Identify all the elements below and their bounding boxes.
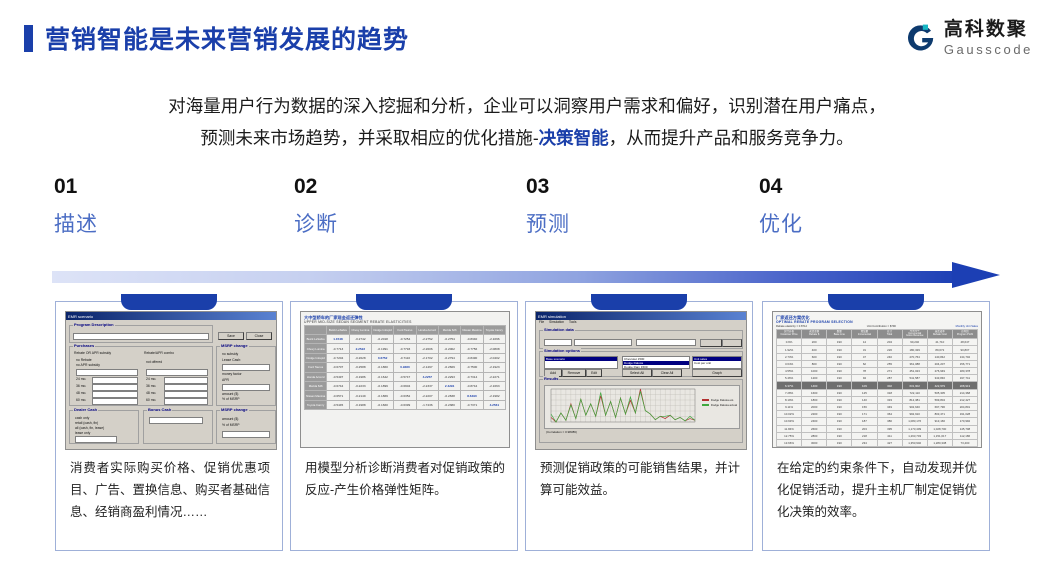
matrix-row-header: Ford Taurus [305,363,327,372]
segment-select[interactable] [574,339,632,346]
slide-root: 营销智能是未来营销发展的趋势 高科数聚 Gausscode 对海量用户行为数据的… [0,0,1051,586]
rebate-cell: 2400 [802,418,827,425]
page-title: 营销智能是未来营销发展的趋势 [24,20,409,56]
apr-48-input[interactable] [92,391,138,398]
table-row: Toyota Camry-0.5445-0.1988-0.1660-0.6399… [305,400,506,409]
rebate-cell: 343,846 [927,375,952,382]
rebate-cell: 1800 [802,396,827,403]
rebate-cell: 10.93% [777,418,802,425]
step-01: 01 描述 [54,176,98,235]
card-predict-caption: 预测促销政策的可能销售结果，并计算可能效益。 [540,458,740,502]
rebate-cell: 190 [827,368,852,375]
matrix-row-header: Nissan Maxima [305,391,327,400]
apr-60-input[interactable] [92,398,138,405]
rebate-cell: 73,400 [952,439,977,446]
table-row: 0.9%2001901420490,24041,71048,647 [777,339,978,346]
options-list[interactable]: Unit salesCost per unit [692,356,742,369]
rebate-elasticity-matrix-screenshot: 大中型轿车的厂家现金返还弹性 UPPER MID-SIZE SEDAN SEGM… [300,311,510,448]
matrix-cell: -0.2754 [438,335,460,344]
rebate-cell: 190 [827,439,852,446]
group-label: Purchases [73,343,95,348]
radio-msrp-pct[interactable]: % of MSRP [222,423,240,428]
msrp-change-input[interactable] [222,431,270,438]
legend-label: Dodge Dakota actual [711,403,737,407]
rebate-cell: 992,910 [902,411,927,418]
rebate-cell: 364 [877,411,902,418]
combo-term-48: 48 mo. [146,391,156,396]
process-steps: 01 描述 02 诊断 03 预测 04 优化 [54,176,1014,246]
rebate-cell: 1400 [802,382,827,389]
step-03-number: 03 [526,176,570,197]
matrix-col-header: Mazda 626 [438,325,460,334]
matrix-cell: -1.7436 [416,400,438,409]
matrix-cell: -2.1982 [483,391,505,400]
rebate-cell: 190 [827,382,852,389]
rebate-cell: 190 [827,396,852,403]
radio-money-factor[interactable]: money factor [222,372,242,377]
rate-subsidy-input[interactable] [222,384,270,391]
combo-24-input[interactable] [164,377,208,384]
step-01-label: 描述 [54,214,98,235]
card-describe-caption: 消费者实际购买价格、促销优惠项目、广告、置换信息、购买者基础信息、经销商盈利情况… [70,458,270,524]
matrix-cell: -0.2018 [371,335,393,344]
rebate-cell: 3.64% [777,360,802,367]
forecast-chart: Dodge Dakota est. Dodge Dakota actual [544,385,740,429]
rebate-col-header: 数量Base Line [827,329,852,339]
matrix-col-header: Honda Accord [416,325,438,334]
matrix-cell: -0.5747 [394,372,416,381]
rebate-cell: 226 [877,346,902,353]
sim-run-button[interactable] [700,339,722,347]
rebate-cell: 156 [852,403,877,410]
card-tab-icon [591,294,687,310]
lease-cash-input[interactable] [222,364,270,371]
rebate-col-header: 返还成本Rebate Cost [927,329,952,339]
rebate-cell: 0.9% [777,339,802,346]
matrix-cell: -0.1869 [371,391,393,400]
matrix-cell: -0.5445 [327,400,349,409]
rebate-cell: 48,647 [952,339,977,346]
rebate-cell: 1,353,940 [902,439,927,446]
scenario-list[interactable]: Base scenario [544,356,618,369]
window-title: EMR simulation [538,314,566,319]
rebate-cell: 190 [827,389,852,396]
graph-button[interactable]: Graph [692,369,742,377]
brand-logo: 高科数聚 Gausscode [905,20,1033,56]
rebate-col-header: 返还金额Rebate $ [802,329,827,339]
group-label: MSRP change [220,343,249,348]
matrix-cell: -0.2002 [438,344,460,353]
rebate-cell: 1600 [802,389,827,396]
matrix-row-header: Toyota Camry [305,400,327,409]
matrix-cell: -0.5497 [327,372,349,381]
rebate-cell: 11.84% [777,425,802,432]
matrix-cell: -0.6399 [394,400,416,409]
matrix-cell: -0.7500 [461,363,483,372]
matrix-row-header: Dodge Intrepid [305,353,327,362]
rebate-cell: 9.11% [777,403,802,410]
simulation-forecast-chart-screenshot: EMR simulation File Simulation Tools Sim… [535,311,747,450]
logo-name-en: Gausscode [944,43,1033,56]
table-row: 10.02%2200190171364992,910803,471191,028 [777,411,978,418]
rebate-cell: 47 [852,353,877,360]
rebate-cell: 156,771 [952,360,977,367]
rebate-cell: 1,151,617 [927,432,952,439]
rebate-cell: 3000 [802,439,827,446]
model-year-select[interactable] [544,339,572,346]
radio-not-offered[interactable]: not offered [146,360,162,365]
rebate-cell: 203 [852,425,877,432]
rebate-cell: 208,913 [952,382,977,389]
matrix-cell: -0.7756 [461,344,483,353]
matrix-cell: 2.2522 [349,344,371,353]
matrix-cell: -2.2271 [483,372,505,381]
matrix-cell: -2.1663 [483,382,505,391]
rebate-cell: 12.75% [777,432,802,439]
radio-cash-only[interactable]: cash only [75,416,89,421]
card-tab-icon [356,294,452,310]
rebate-cell: 318 [877,389,902,396]
table-row: 10.93%24001901873801,083,176913,166170,9… [777,418,978,425]
combo-60-input[interactable] [164,398,208,405]
matrix-col-header: Toyota Camry [483,325,505,334]
matrix-cell: -0.1860 [371,363,393,372]
matrix-cell: 4.2561 [483,400,505,409]
combo-amount-input[interactable] [146,369,208,376]
table-row: 7.28%1600190125318722,110505,305214,368 [777,389,978,396]
rebate-cell: 89,672 [927,346,952,353]
label-rebate-apr: Rebate OR APR subsidy [74,351,111,356]
matrix-cell: -0.7371 [461,400,483,409]
matrix-row-header: Buick LeSabre [305,335,327,344]
rebate-cell: 422,979 [927,382,952,389]
intro-line-2-post: ，从而提升产品和服务竞争力。 [609,128,854,148]
rebate-cell: 218 [852,432,877,439]
card-describe[interactable]: EMR scenario Program Description Save Cl… [55,301,283,551]
apr-36-input[interactable] [92,384,138,391]
matrix-col-header: Dodge Intrepid [371,325,393,334]
rebate-cell: 145,708 [952,425,977,432]
card-optimize[interactable]: 厂家返还方案优化 OPTIMAL REBATE PROGRAM SELECTIO… [762,301,990,551]
rebate-cell: 631,902 [902,382,927,389]
rebate-cell: 190 [827,360,852,367]
group-simulation-options: Simulation options Base scenario Chevrol… [539,351,743,377]
close-button[interactable]: Close [246,332,272,340]
table-row: 6.37%1400190109302631,902422,979208,913 [777,382,978,389]
legend-label: Dodge Dakota est. [711,398,734,402]
matrix-col-header: Chevy Lumina [349,325,371,334]
rebate-cell: 361,088 [902,360,927,367]
matrix-cell: -2.1497 [416,363,438,372]
rebate-cell: 14.57% [777,447,802,448]
radio-all[interactable]: all (cash, fin, lease) [75,426,104,431]
clear-all-button[interactable]: Clear All [652,369,682,377]
matrix-col-header: Ford Taurus [394,325,416,334]
elasticity-matrix-table: Buick LeSabreChevy LuminaDodge IntrepidF… [304,325,506,411]
rebate-cell: 94 [852,375,877,382]
table-row: Dodge Intrepid-0.7204-0.26280.6752-0.711… [305,353,506,362]
step-02-number: 02 [294,176,338,197]
rebate-cell: 190 [827,425,852,432]
model-list[interactable]: Chevrolet 1500Dodge DakotaDodge Ram 1500 [622,356,690,369]
rebate-cell: 140,842 [927,353,952,360]
title-text: 营销智能是未来营销发展的趋势 [45,20,409,56]
matrix-cell: -0.6707 [327,363,349,372]
rebate-cell: 400 [802,346,827,353]
table-header-row: 实行价格Customer Price返还金额Rebate $数量Base Lin… [777,329,978,339]
rebate-cell: 90,240 [902,339,927,346]
rebate-cell: 505,305 [927,389,952,396]
rebate-cell: 204,207 [927,360,952,367]
matrix-cell: -2.2752 [416,335,438,344]
term-48: 48 mo. [76,391,86,396]
radio-pct-msrp[interactable]: % of MSRP [222,397,240,402]
window-body: Simulation data Simulation options Base … [536,325,746,449]
rebate-meta-mid: Unit Contribution = $790 [867,325,896,328]
table-body: Buick LeSabre1.1548-0.2742-0.2018-0.7254… [305,335,506,410]
table-row: 12.75%28001902184111,263,7031,151,617112… [777,432,978,439]
rebate-amount-input[interactable] [76,369,138,376]
remove-button[interactable]: Remove [562,369,586,377]
rebate-cell: 1,280,338 [927,439,952,446]
rebate-cell: 1,173,409 [902,425,927,432]
matrix-row-header: Chevy Lumina [305,344,327,353]
rebate-cell: 599,804 [927,396,952,403]
card-diagnose-caption: 用模型分析诊断消费者对促销政策的反应-产生价格弹性矩阵。 [305,458,505,502]
optimal-rebate-table: 实行价格Customer Price返还金额Rebate $数量Base Lin… [776,329,978,448]
step-04: 04 优化 [759,176,803,235]
matrix-cell: -0.2794 [438,353,460,362]
table-header-row: Buick LeSabreChevy LuminaDodge IntrepidF… [305,325,506,334]
radio-retail[interactable]: retail (cash, fin) [75,421,98,426]
rebate-cell: 190 [827,403,852,410]
rebate-cell: 722,110 [902,389,927,396]
card-diagnose[interactable]: 大中型轿车的厂家现金返还弹性 UPPER MID-SIZE SEDAN SEGM… [290,301,518,551]
table-row: 13.66%30001902344271,353,9401,280,33873,… [777,439,978,446]
rebate-cell: 427 [877,439,902,446]
bonus-cash-input[interactable] [149,417,203,424]
rebate-cell: 697,796 [927,403,952,410]
chart-correlation-note: (Correlation = 0.98386) [546,430,577,434]
matrix-col-header: Buick LeSabre [327,325,349,334]
rebate-cell: 287 [877,375,902,382]
rebate-cell: 249 [852,447,877,448]
rebate-cell: 204,801 [952,403,977,410]
card-predict[interactable]: EMR simulation File Simulation Tools Sim… [525,301,753,551]
title-bullet-icon [24,25,33,52]
matrix-cell: -0.7793 [394,344,416,353]
group-label: Results [543,376,559,381]
table-row: Buick LeSabre1.1548-0.2742-0.2018-0.7254… [305,335,506,344]
group-label: Simulation options [543,348,581,353]
term-24: 24 mo. [76,377,86,382]
rebate-cell: 212,427 [952,396,977,403]
rebate-cell: 1200 [802,375,827,382]
group-leases: MSRP change no subsidy Lease Cash: money… [216,346,276,406]
matrix-cell: -0.6352 [394,391,416,400]
rebate-cell: 10.02% [777,411,802,418]
matrix-col-header: Nissan Maxima [461,325,483,334]
process-arrow-head [952,262,1000,288]
radio-apr[interactable]: APR [222,378,229,383]
rebate-cell: 191,028 [952,411,977,418]
group-results: Results Dodge Dakota est. Dodge Dakota a… [539,379,743,443]
table-row: 11.84%26001902033951,173,4091,028,700145… [777,425,978,432]
table-row: Mazda 626-0.6744-0.2233-0.1899-0.6904-2.… [305,382,506,391]
list-item[interactable]: Cost per unit [693,361,741,365]
select-all-button[interactable]: Select All [622,369,652,377]
rebate-cell: 190 [827,375,852,382]
rebate-cell: 276,949 [927,368,952,375]
matrix-cell: 4.2257 [416,372,438,381]
matrix-row-header: Mazda 626 [305,382,327,391]
rebate-cell: 4.55% [777,368,802,375]
group-bonus-cash: Bonus Cash [143,410,213,444]
rebate-cell: 2000 [802,403,827,410]
matrix-cell: -2.2207 [416,391,438,400]
program-description-input[interactable] [73,333,209,340]
rebate-cell: 902,640 [902,403,927,410]
rebate-cell: 442 [877,447,902,448]
rebate-cell: 1,444,202 [902,447,927,448]
rebate-cell: 1,083,176 [902,418,927,425]
matrix-cell: -0.2588 [349,363,371,372]
rebate-cell: 2200 [802,411,827,418]
list-item[interactable]: Base scenario [545,357,617,361]
matrix-cell: -2.2337 [416,382,438,391]
radio-amount[interactable]: amount ($) [222,392,238,397]
matrix-cell: -0.1899 [371,382,393,391]
rebate-cell: 3200 [802,447,827,448]
matrix-cell: -0.2149 [349,391,371,400]
matrix-row-header: Honda Accord [305,372,327,381]
corner-cell [305,325,327,334]
rebate-cell: 170,992 [952,418,977,425]
step-03-label: 预测 [526,214,570,235]
matrix-cell: -2.0402 [483,353,505,362]
group-purchases: Purchases Rebate OR APR subsidy Rebate/A… [69,346,213,406]
optimal-rebate-program-screenshot: 厂家返还方案优化 OPTIMAL REBATE PROGRAM SELECTIO… [772,311,982,448]
matrix-cell: -0.1660 [371,400,393,409]
process-arrow [52,264,1002,290]
matrix-cell: -2.0808 [483,344,505,353]
rebate-cell: 90,807 [952,346,977,353]
matrix-cell: -0.7110 [394,353,416,362]
rebate-cell: 1,028,700 [927,425,952,432]
rebate-cell: 255 [877,360,902,367]
group-label: Bonus Cash [147,407,172,412]
group-msrp-change: MSRP change amount ($) % of MSRP [216,410,276,444]
rebate-col-header: 增加量Incremental [852,329,877,339]
rebate-cell: 234 [852,439,877,446]
rebate-cell: 13.66% [777,439,802,446]
logo-name-cn: 高科数聚 [944,20,1033,39]
combo-36-input[interactable] [164,384,208,391]
radio-msrp-amount[interactable]: amount ($) [222,417,238,422]
rebate-cell: 214,368 [952,389,977,396]
radio-no-subsidy[interactable]: no subsidy [222,352,238,357]
rebate-cell: 62 [852,360,877,367]
region-select[interactable] [636,339,696,346]
rebate-cell: 180,378 [952,368,977,375]
radio-no-apr-subsidy[interactable]: no APR subsidy [76,363,100,368]
matrix-cell: -0.1986 [349,372,371,381]
save-button[interactable]: Save [218,332,244,340]
rebate-cell: 270,764 [902,353,927,360]
table-row: Nissan Maxima-0.6571-0.2149-0.1869-0.635… [305,391,506,400]
rebate-cell: 190 [827,339,852,346]
intro-line-2-pre: 预测未来市场趋势，并采取相应的优化措施- [200,128,538,148]
rebate-cell: 190 [827,346,852,353]
rebate-cell: 913,166 [927,418,952,425]
matrix-cell: 1.1548 [327,335,349,344]
group-label: Program Description [73,322,115,327]
matrix-cell: -2.2606 [416,344,438,353]
dealer-cash-input[interactable] [75,436,117,443]
term-60: 60 mo. [76,398,86,403]
rebate-cell: 197,741 [952,375,977,382]
chart-legend: Dodge Dakota est. Dodge Dakota actual [702,398,737,408]
rebate-cell: 78 [852,368,877,375]
matrix-cell: 2.4291 [438,382,460,391]
table-row: 1.92%40019031226180,32989,67290,807 [777,346,978,353]
window-titlebar: EMR simulation [536,312,746,320]
intro-line-1: 对海量用户行为数据的深入挖掘和分析，企业可以洞察用户需求和偏好，识别潜在用户痛点… [52,90,1002,122]
window-body: Program Description Save Close Purchases… [66,320,276,449]
matrix-cell: -0.1991 [371,344,393,353]
rebate-cell: 2800 [802,432,827,439]
combo-term-60: 60 mo. [146,398,156,403]
rebate-col-header: 总利润Program Profit [952,329,977,339]
step-03: 03 预测 [526,176,570,235]
table-row: 14.57%32001902494421,444,2021,414,75629,… [777,447,978,448]
rebate-cell: 31 [852,346,877,353]
group-label: MSRP change [220,407,249,412]
table-row: Ford Taurus-0.6707-0.2588-0.18600.9480-2… [305,363,506,372]
rebate-cell: 187 [852,418,877,425]
table-row: 8.19%1800190140333812,381599,804212,427 [777,396,978,403]
step-01-number: 01 [54,176,98,197]
radio-lease-only[interactable]: lease only [75,431,90,436]
label-lease-cash: Lease Cash: [222,358,241,363]
rebate-cell: 14 [852,339,877,346]
table-row: 3.64%80019062255361,088204,207156,771 [777,360,978,367]
rebate-col-header: 总计Total [877,329,902,339]
step-04-number: 04 [759,176,803,197]
step-02: 02 诊断 [294,176,338,235]
group-label: Dealer Cash [73,407,98,412]
window-title: EMR scenario [68,314,93,319]
sim-save-button[interactable] [722,339,742,347]
table-row: 5.46%120019094287541,587343,846197,741 [777,375,978,382]
legend-entry-actual: Dodge Dakota actual [702,403,737,408]
matrix-cell: -0.7314 [461,372,483,381]
group-label: Simulation data [543,327,575,332]
matrix-cell: -0.6904 [394,382,416,391]
process-arrow-bar [52,271,962,283]
matrix-cell: -0.6571 [327,391,349,400]
radio-no-rebate[interactable]: no Rebate [76,358,92,363]
apr-24-input[interactable] [92,377,138,384]
rebate-cell: 5.46% [777,375,802,382]
rebate-cell: 271 [877,368,902,375]
step-02-label: 诊断 [294,214,338,235]
table-body: 0.9%2001901420490,24041,71048,6471.92%40… [777,339,978,448]
combo-48-input[interactable] [164,391,208,398]
edit-button[interactable]: Edit [586,369,602,377]
rebate-cell: 541,587 [902,375,927,382]
matrix-cell: 0.6752 [371,353,393,362]
